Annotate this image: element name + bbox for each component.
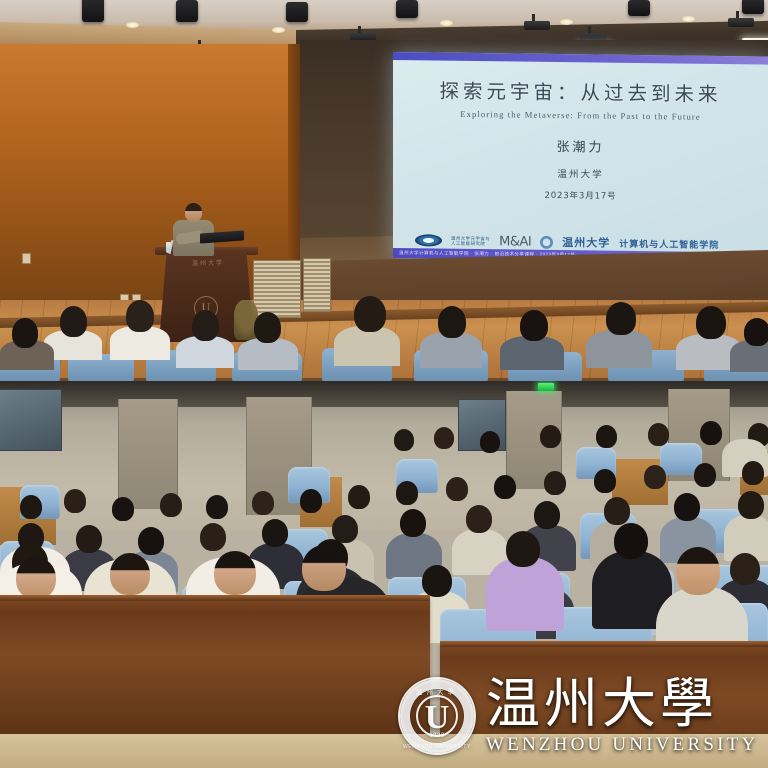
ceiling-speaker-icon	[628, 0, 650, 16]
audience-head	[138, 527, 164, 555]
slide-content: 探索元宇宙：从过去到未来 Exploring the Metaverse: Fr…	[393, 60, 768, 253]
seal-arc-top-text: 温州大學	[400, 686, 474, 696]
audience-head	[648, 423, 669, 446]
hall-window	[0, 389, 62, 451]
institute-name-line2: 人工智能研究院	[451, 241, 490, 247]
slide-title-en: Exploring the Metaverse: From the Past t…	[460, 109, 701, 122]
downlight-icon	[682, 16, 695, 22]
watermark-text: 温州大學 WENZHOU UNIVERSITY	[486, 675, 758, 756]
podium-name-plate: 温州大学	[168, 258, 248, 267]
audience-head	[20, 495, 42, 519]
audience-head	[596, 425, 617, 448]
audience-head	[434, 427, 454, 449]
audience-head	[254, 312, 281, 343]
audience-head	[676, 547, 720, 595]
audience-head	[200, 523, 226, 551]
audience-head	[60, 306, 87, 337]
audience-head	[214, 551, 256, 595]
slide-date: 2023年3月17号	[544, 189, 616, 202]
audience-member	[334, 326, 400, 366]
college-name: 计算机与人工智能学院	[619, 236, 719, 250]
audience-head	[394, 429, 414, 451]
audience-head	[742, 461, 764, 485]
audience-head	[12, 318, 38, 348]
audience-member	[586, 330, 652, 368]
audience-head	[744, 318, 768, 346]
audience-head	[738, 491, 764, 519]
audience-head	[614, 523, 648, 559]
hall-ceiling-shadow	[0, 381, 768, 407]
audience-head	[348, 485, 370, 509]
screenshot-root: 探索元宇宙：从过去到未来 Exploring the Metaverse: Fr…	[0, 0, 768, 768]
audience-head	[696, 306, 726, 339]
institute-name-block: 温州大学元宇宙与 人工智能研究院	[451, 236, 490, 247]
audience-head	[76, 525, 102, 553]
university-seal-icon: 温州大學 1933 WENZHOU UNIVERSITY	[398, 677, 476, 755]
audience-head	[494, 475, 516, 499]
audience-head	[506, 531, 540, 567]
audience-head	[700, 421, 722, 445]
truss-light-icon	[728, 18, 754, 27]
audience-head	[302, 545, 346, 591]
watermark-cn: 温州大學	[486, 675, 758, 733]
audience-member-lavender	[486, 557, 564, 631]
metaverse-institute-logo-icon	[415, 234, 442, 246]
downlight-icon	[272, 27, 285, 33]
audience-head	[438, 306, 466, 338]
university-name: 温州大学	[562, 234, 610, 251]
speaker-head	[185, 203, 202, 222]
ceiling-speaker-icon	[176, 0, 198, 22]
projector-screen: 探索元宇宙：从过去到未来 Exploring the Metaverse: Fr…	[393, 52, 768, 263]
audience-head	[422, 565, 452, 597]
ceiling-speaker-icon	[82, 0, 104, 22]
wall-socket	[22, 253, 31, 264]
audience-head	[110, 553, 150, 595]
audience-head	[400, 509, 426, 537]
audience-head	[730, 553, 760, 585]
audience-head	[644, 465, 666, 489]
audience-head	[126, 300, 154, 332]
university-seal-icon	[540, 235, 553, 248]
exit-sign-icon	[538, 383, 554, 391]
front-desk	[0, 601, 430, 735]
water-bottle	[166, 242, 171, 253]
audience-head	[604, 497, 630, 525]
wall-grille-panel	[303, 258, 331, 312]
audience-head	[192, 310, 219, 341]
audience-head	[544, 471, 566, 495]
audience-head	[354, 296, 386, 332]
audience-head	[300, 489, 322, 513]
audience-head	[160, 493, 182, 517]
watermark: 温州大學 1933 WENZHOU UNIVERSITY 温州大學 WENZHO…	[398, 675, 758, 756]
audience-head	[64, 489, 86, 513]
truss-light-icon	[524, 21, 550, 30]
audience-head	[16, 557, 56, 599]
ceiling-speaker-icon	[742, 0, 764, 14]
seal-year: 1933	[400, 733, 474, 739]
audience-member	[500, 336, 564, 370]
audience-head	[112, 497, 134, 521]
audience-head	[520, 310, 548, 341]
audience-head	[262, 519, 288, 547]
audience-head	[252, 491, 274, 515]
institute-abbr: M&AI	[499, 234, 531, 249]
audience-head	[534, 501, 560, 529]
wall-grille-panel	[253, 260, 301, 318]
ceiling-speaker-icon	[396, 0, 418, 18]
audience-head	[540, 425, 561, 448]
photo-auditorium-stage: 探索元宇宙：从过去到未来 Exploring the Metaverse: Fr…	[0, 0, 768, 381]
audience-head	[694, 463, 716, 487]
slide-org: 温州大学	[557, 166, 603, 181]
audience-head	[674, 493, 700, 521]
audience-head	[396, 481, 418, 505]
audience-head	[606, 302, 636, 335]
downlight-icon	[440, 20, 453, 26]
watermark-en: WENZHOU UNIVERSITY	[486, 734, 758, 756]
audience-head	[446, 477, 468, 501]
audience-head	[594, 469, 616, 493]
audience-head	[480, 431, 500, 453]
slide-author: 张潮力	[556, 136, 604, 156]
downlight-icon	[560, 19, 573, 25]
seal-arc-bottom-text: WENZHOU UNIVERSITY	[400, 744, 474, 750]
audience-head	[466, 505, 492, 533]
audience-head	[206, 495, 228, 519]
slide-title-cn: 探索元宇宙：从过去到未来	[439, 75, 721, 107]
ceiling-speaker-icon	[286, 2, 308, 22]
downlight-icon	[126, 22, 139, 28]
